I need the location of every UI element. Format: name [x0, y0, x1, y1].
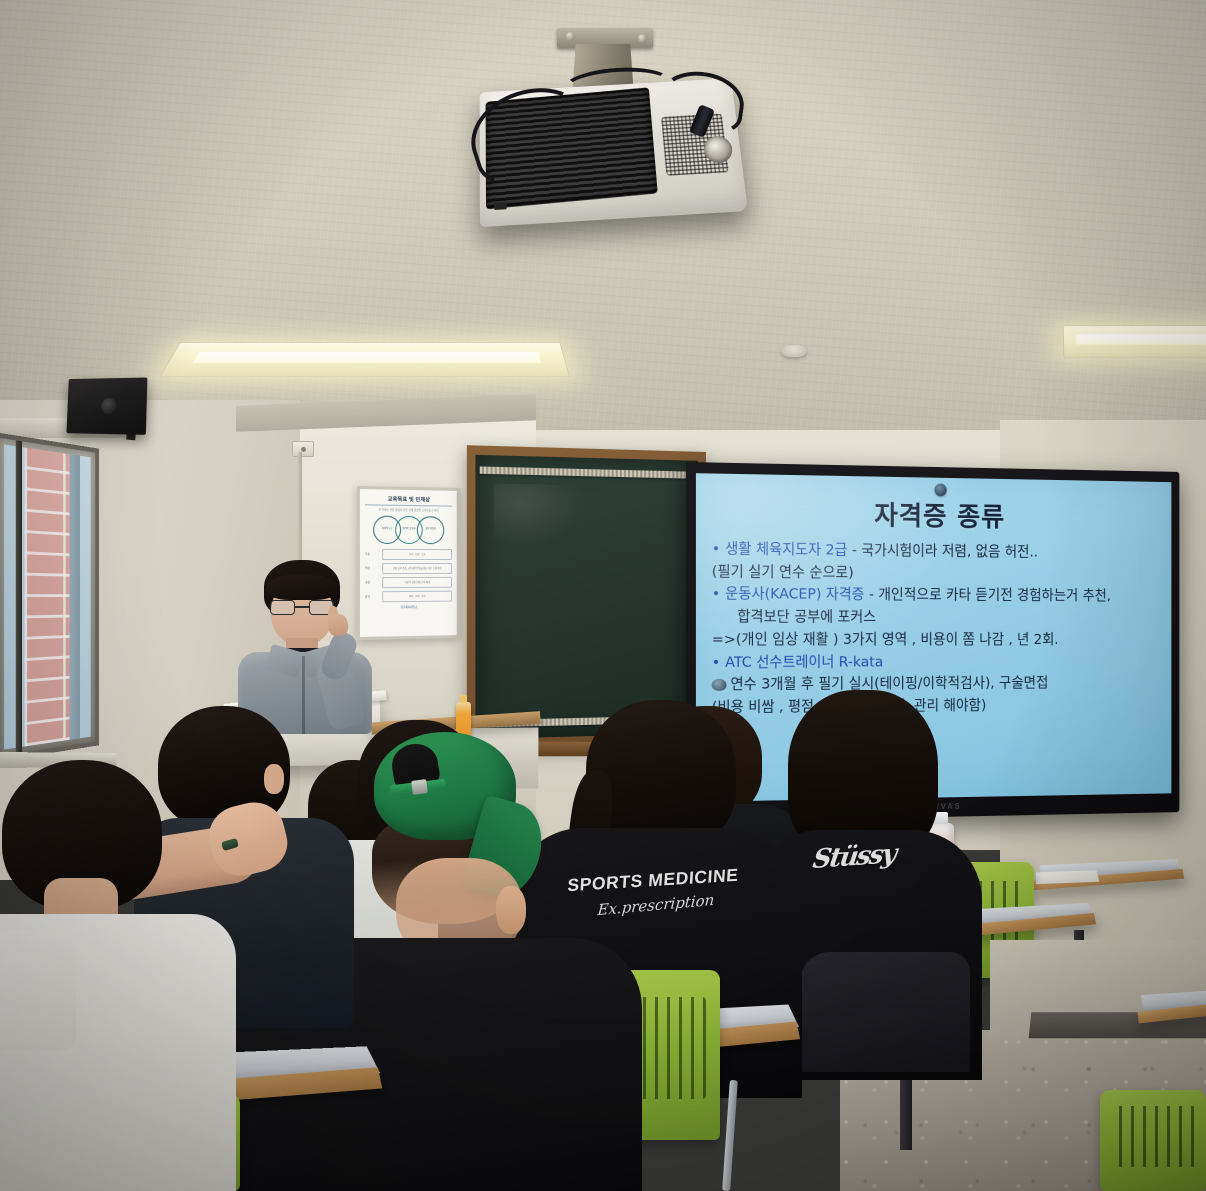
- slide-line-text: 합격보단 공부에 포커스: [737, 608, 876, 625]
- mount-bolt-icon: [566, 32, 575, 41]
- slide-line: •운동사(KACEP) 자격증 - 개인적으로 카타 듣기전 경험하는거 추천,: [712, 585, 1166, 608]
- poster-diagram: 창의적 사고 협력적 공동체 전문 직업인: [365, 515, 452, 544]
- poster-row-value: 이론과 실습 연계 교육 체계: [382, 577, 452, 588]
- cap-buckle-icon: [411, 779, 428, 795]
- poster-subtitle: 본 학과는 현장 중심의 전문 인재 양성을 교육목표로 한다: [367, 508, 450, 513]
- student-white-tee: [0, 760, 236, 1191]
- slide-line-highlight: ATC 선수트레이너 R-kata: [725, 653, 883, 670]
- glasses-icon: [270, 600, 334, 615]
- bullet-icon: •: [712, 540, 720, 557]
- instructor-fringe: [266, 574, 338, 600]
- classroom-photo: 교육목표 및 인재상 본 학과는 현장 중심의 전문 인재 양성을 교육목표로 …: [0, 0, 1206, 1191]
- wall-outlet-icon: [292, 441, 314, 457]
- ceiling-projector: [462, 28, 762, 238]
- ceiling-light-left: [159, 342, 570, 377]
- bullet-icon: •: [712, 654, 720, 671]
- slide-line: •생활 체육지도자 2급 - 국가시험이라 저렴, 없음 허전..: [712, 539, 1166, 564]
- slide-line: (필기 실기 연수 순으로): [712, 562, 1166, 586]
- projector-indicator-icon: [494, 202, 506, 210]
- poster-row-value: 지식 · 인성 · 실무: [382, 549, 452, 560]
- slide-line-highlight: 생활 체육지도자 2급: [725, 540, 847, 558]
- window: [0, 432, 99, 762]
- slide-line: =>(개인 임상 재활 ) 3가지 영역 , 비용이 쫌 나감 , 년 2회.: [712, 630, 1166, 651]
- speaker-cone-icon: [101, 398, 117, 414]
- poster-circle: 전문 직업인: [417, 516, 444, 544]
- window-mullion: [15, 440, 21, 753]
- paper-on-desk: [1036, 870, 1099, 884]
- slide-line-highlight: 운동사(KACEP) 자격증: [725, 586, 864, 604]
- wall-speaker: [66, 377, 147, 434]
- slide-line-text: (필기 실기 연수 순으로): [712, 563, 854, 581]
- chair[interactable]: [1100, 1090, 1206, 1191]
- speech-emoji-icon: [712, 679, 727, 691]
- slide-line: 합격보단 공부에 포커스: [712, 607, 1166, 628]
- smoke-detector-icon: [781, 345, 807, 357]
- slide-line-text: - 국가시험이라 저렴, 없음 허전..: [852, 542, 1038, 560]
- student-ear: [264, 764, 284, 794]
- slide-line: •ATC 선수트레이너 R-kata: [712, 652, 1166, 673]
- ceiling-light-right: [1063, 326, 1206, 358]
- poster-title: 교육목표 및 인재상: [365, 495, 452, 506]
- chalkboard-rail: [480, 466, 694, 478]
- exterior-downspout: [70, 454, 81, 740]
- exterior-brick-wall: [24, 458, 69, 749]
- slide-title: 자격증 종류: [696, 491, 1171, 536]
- poster-row-label: 목표: [365, 552, 379, 556]
- poster-row-value: 현장 실무 중심 교육과정 운영을 통한 직무 능력 배양: [382, 563, 452, 574]
- slide-line-text: =>(개인 임상 재활 ) 3가지 영역 , 비용이 쫌 나감 , 년 2회.: [712, 631, 1059, 648]
- student-ear: [496, 886, 526, 934]
- student-shoulder: [0, 930, 76, 1050]
- mount-bolt-icon: [638, 34, 647, 43]
- poster-row: 목표 지식 · 인성 · 실무: [365, 549, 452, 560]
- chalkboard-surface: [475, 455, 698, 739]
- slide-line-text: - 개인적으로 카타 듣기전 경험하는거 추천,: [869, 587, 1111, 605]
- bullet-icon: •: [712, 586, 720, 603]
- backpack: [800, 952, 970, 1072]
- poster-row-value: 취업 · 자격 · 진학: [382, 591, 452, 603]
- instructor: [218, 560, 388, 730]
